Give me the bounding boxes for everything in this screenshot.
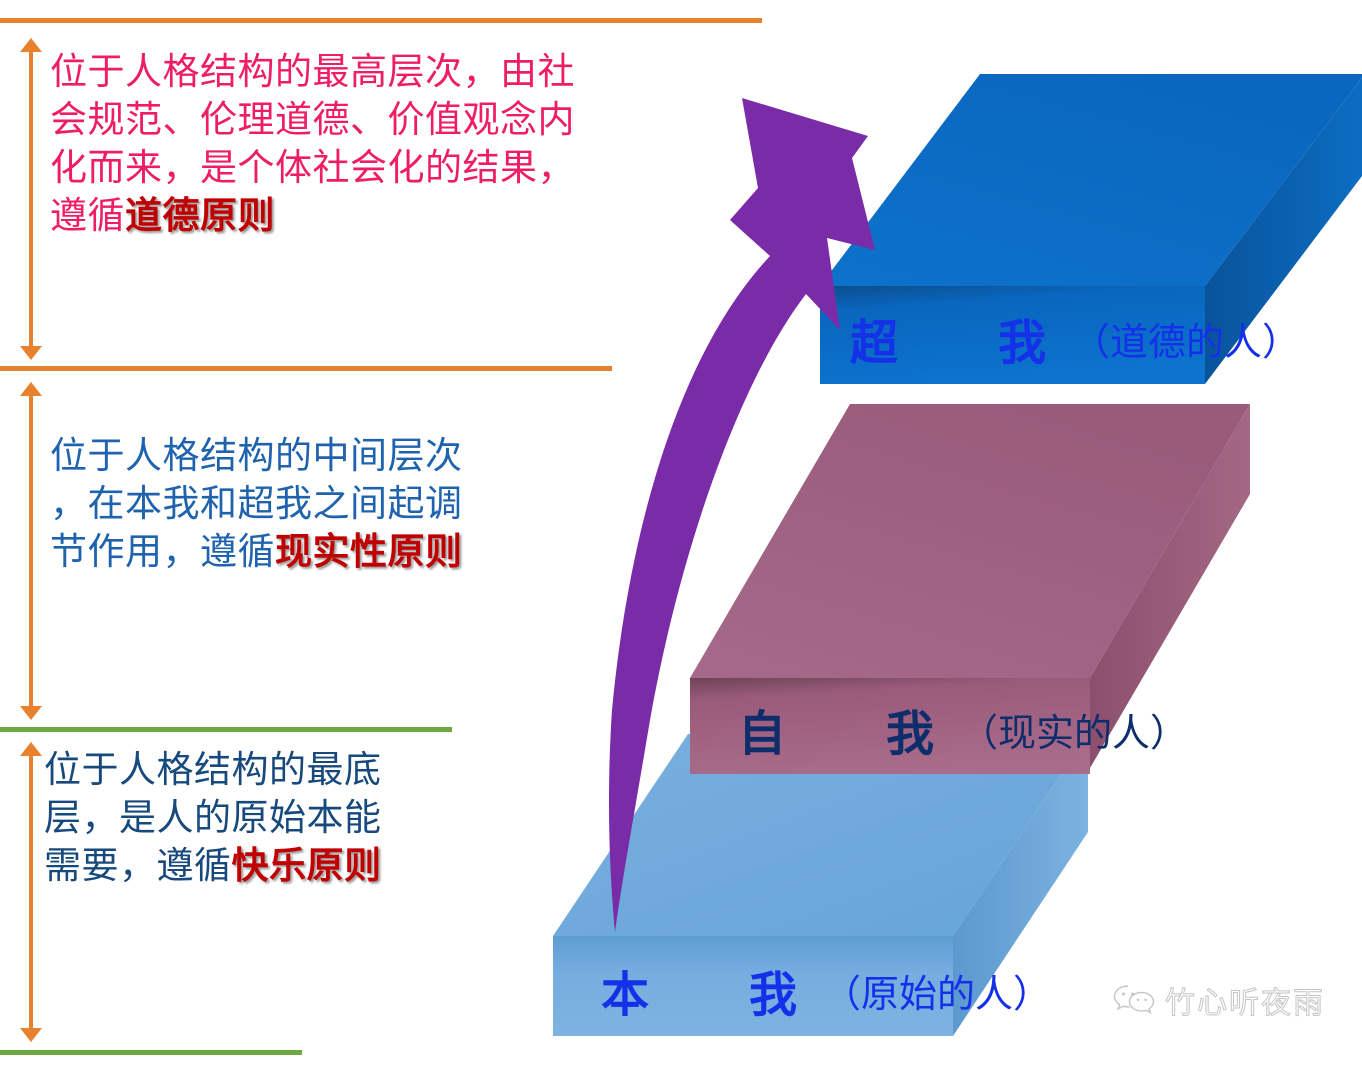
divider-rule-superego-bottom: [0, 366, 612, 371]
wechat-watermark: 竹心听夜雨: [1113, 978, 1325, 1022]
block-superego-shape: [820, 64, 1362, 409]
block-id-front-face: [553, 936, 953, 1036]
slide-canvas: 位于人格结构的最高层次，由社 会规范、伦理道德、价值观念内 化而来，是个体社会化…: [0, 0, 1362, 1081]
wechat-icon: [1113, 982, 1155, 1018]
block-superego: 超 我 （道德的人）: [820, 64, 1362, 409]
watermark-text: 竹心听夜雨: [1165, 978, 1325, 1022]
superego-description: 位于人格结构的最高层次，由社 会规范、伦理道德、价值观念内 化而来，是个体社会化…: [50, 48, 670, 240]
arrowhead-down-icon: [20, 706, 42, 720]
divider-rule-bottom: [0, 1050, 302, 1055]
ego-emphasis: 现实性原则: [275, 531, 463, 572]
arrow-shaft: [29, 753, 33, 1031]
id-measure-arrow: [20, 742, 42, 1042]
arrowhead-down-icon: [20, 1028, 42, 1042]
divider-rule-ego-bottom: [0, 727, 452, 732]
superego-emphasis: 道德原则: [125, 195, 275, 236]
arrow-shaft: [29, 393, 33, 709]
arrowhead-down-icon: [20, 346, 42, 360]
ego-measure-arrow: [20, 382, 42, 720]
arrow-shaft: [29, 49, 33, 349]
upward-growth-arrow: [590, 80, 890, 940]
superego-measure-arrow: [20, 38, 42, 360]
id-description: 位于人格结构的最底 层，是人的原始本能 需要，遵循快乐原则: [44, 746, 464, 890]
divider-rule-top: [0, 18, 762, 23]
id-emphasis: 快乐原则: [232, 845, 382, 886]
ego-description: 位于人格结构的中间层次 ，在本我和超我之间起调 节作用，遵循现实性原则: [50, 432, 550, 576]
arrow-path: [609, 98, 875, 932]
